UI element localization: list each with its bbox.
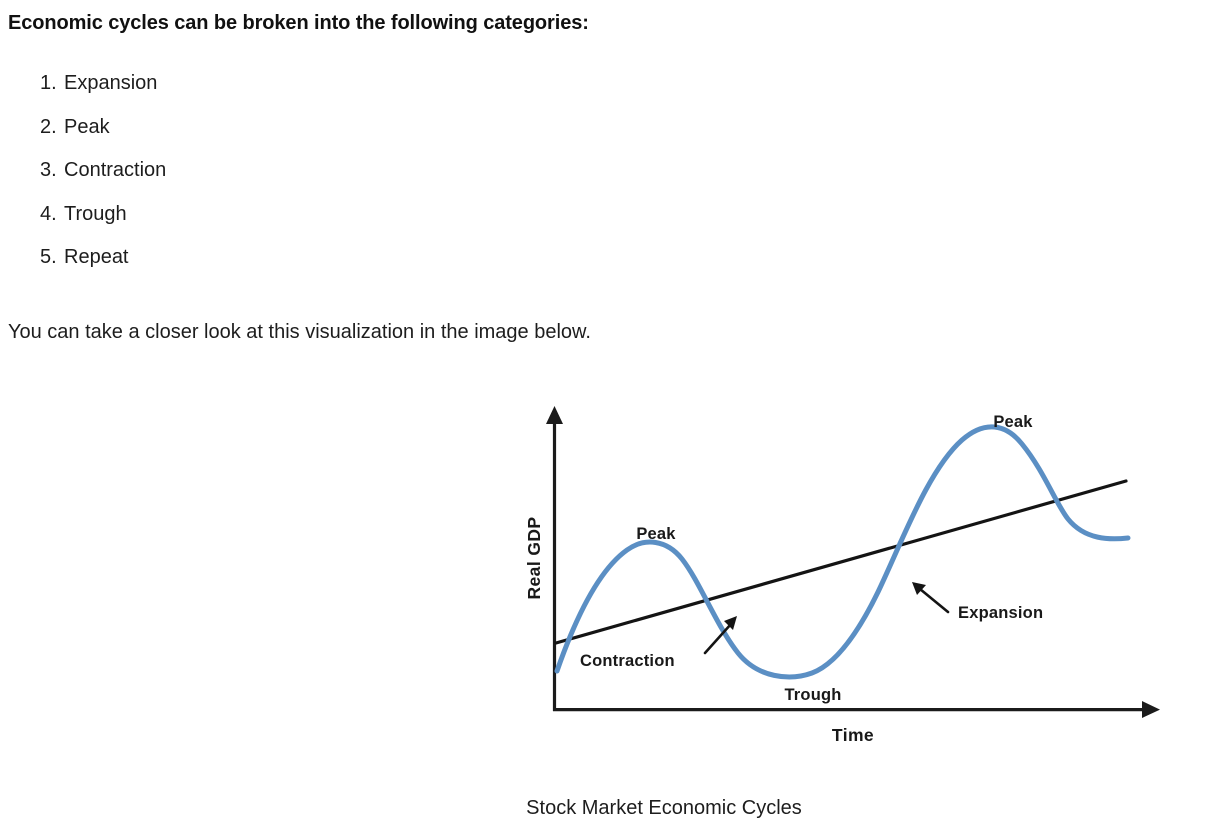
expansion-arrow-icon [912,582,948,612]
business-cycle-curve [557,427,1128,677]
x-axis-title: Time [832,725,874,745]
peak-1-label: Peak [636,525,676,543]
trough-label: Trough [784,686,841,704]
contraction-label: Contraction [580,652,675,670]
y-axis-title: Real GDP [524,517,544,600]
page-root: Economic cycles can be broken into the f… [0,0,1210,832]
x-axis [553,701,1160,718]
peak-2-label: Peak [993,413,1033,431]
figure-caption: Stock Market Economic Cycles [0,793,1210,823]
expansion-label: Expansion [958,604,1043,622]
economic-cycle-chart: Peak Peak Trough Contraction Expansion R… [0,0,1210,832]
